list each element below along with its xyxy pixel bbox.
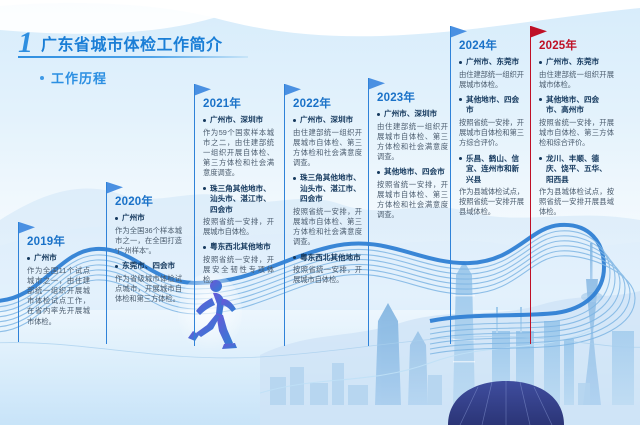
timeline-entry-heading: 珠三角其他地市、汕头市、湛江市、四会市	[293, 173, 362, 205]
timeline-year-label: 2025年	[539, 40, 614, 53]
bullet-icon	[293, 177, 296, 180]
timeline-column-body: 2021年广州市、深圳市作为59个国家样本城市之二，由住建部统一组织开展自体检、…	[194, 84, 274, 286]
timeline-entry: 其他地市、四会市按照省统一安排，开展城市自体检和第三方综合评价。	[459, 95, 524, 149]
timeline-entry-heading: 其他地市、四会市	[459, 95, 524, 116]
bullet-icon	[459, 157, 462, 160]
bullet-icon	[539, 61, 542, 64]
timeline-column-2022[interactable]: 2022年广州市、深圳市由住建部统一组织开展城市自体检、第三方体检和社会满意度调…	[284, 84, 362, 291]
flag-icon	[369, 78, 387, 90]
timeline-entry-text: 作为县城体检试点，按照省统一安排开展县域体检。	[459, 187, 524, 218]
bullet-icon	[293, 256, 296, 259]
timeline-entry: 广州市、东莞市由住建部统一组织开展城市体检。	[539, 57, 614, 90]
flag-icon	[19, 222, 37, 234]
timeline-column-2025[interactable]: 2025年广州市、东莞市由住建部统一组织开展城市体检。其他地市、四会市、高州市按…	[530, 26, 614, 223]
timeline-year-label: 2019年	[27, 236, 90, 249]
timeline-entry-heading-text: 广州市、深圳市	[210, 115, 274, 126]
flag-icon	[107, 182, 125, 194]
timeline-column-body: 2019年广州市作为全国11个试点城市之一，由住建部统一组织开展城市体检试点工作…	[18, 222, 90, 327]
timeline-entry-heading: 广州市、深圳市	[293, 115, 362, 126]
timeline-entry-text: 作为59个国家样本城市之二，由住建部统一组织开展自体检、第三方体检和社会满意度调…	[203, 128, 274, 179]
timeline-entry-text: 由住建部统一组织开展城市自体检、第三方体检和社会满意度调查。	[293, 128, 362, 169]
section-number: 1	[18, 30, 35, 56]
slide-canvas: 1 广东省城市体检工作简介 工作历程 2019年广州市作为全国11个试点城市之一…	[0, 0, 640, 425]
dot-icon	[40, 76, 44, 80]
timeline-entry: 广州市、深圳市作为59个国家样本城市之二，由住建部统一组织开展自体检、第三方体检…	[203, 115, 274, 179]
bullet-icon	[539, 157, 542, 160]
flag-icon	[531, 26, 549, 38]
timeline-year-label: 2024年	[459, 40, 524, 53]
timeline-column-2023[interactable]: 2023年广州市、深圳市由住建部统一组织开展城市自体检、第三方体检和社会满意度调…	[368, 78, 448, 226]
timeline-rail	[368, 78, 369, 346]
timeline-entry-text: 按照省统一安排，开展城市自体检。	[293, 265, 362, 285]
timeline-entry: 珠三角其他地市、汕头市、湛江市、四会市按照省统一安排，开展城市自体检、第三方体检…	[293, 173, 362, 247]
timeline-entry-text: 按照省统一安排，开展城市自体检、第三方体检和社会满意度调查。	[293, 207, 362, 248]
timeline-entry-text: 作为省级城市体检试点城市，开展城市自体检和第三方体检。	[115, 274, 182, 305]
timeline-entry-heading-text: 广州市、东莞市	[466, 57, 524, 68]
timeline-entry-text: 按照省统一安排，开展城市自体检、第三方体检和社会满意度调查。	[377, 180, 448, 221]
timeline-entry-heading: 广州市、东莞市	[539, 57, 614, 68]
timeline-column-body: 2020年广州市作为全国36个样本城市之一，在全国打造“广州样本”。东莞市、四会…	[106, 182, 182, 304]
timeline-year-label: 2021年	[203, 98, 274, 111]
timeline-entry-heading-text: 珠三角其他地市、汕头市、湛江市、四会市	[210, 184, 274, 216]
timeline-entry: 珠三角其他地市、汕头市、湛江市、四会市按照省统一安排，开展城市自体检。	[203, 184, 274, 238]
timeline-entry-heading: 广州市、深圳市	[377, 109, 448, 120]
timeline-entry-heading: 广州市、东莞市	[459, 57, 524, 68]
timeline-entry: 东莞市、四会市作为省级城市体检试点城市，开展城市自体检和第三方体检。	[115, 261, 182, 304]
timeline-entry: 其他地市、四会市、高州市按照省统一安排，开展城市自体检、第三方体检和综合评价。	[539, 95, 614, 149]
timeline-entry-text: 作为全国11个试点城市之一，由住建部统一组织开展城市体检试点工作，在省内率先开展…	[27, 266, 90, 327]
flag-icon	[285, 84, 303, 96]
title-underline-divider	[18, 56, 248, 58]
timeline-column-2021[interactable]: 2021年广州市、深圳市作为59个国家样本城市之二，由住建部统一组织开展自体检、…	[194, 84, 274, 291]
timeline-entry-text: 按照省统一安排，开展城市自体检。	[203, 217, 274, 237]
timeline-column-2019[interactable]: 2019年广州市作为全国11个试点城市之一，由住建部统一组织开展城市体检试点工作…	[18, 222, 90, 332]
bullet-icon	[459, 98, 462, 101]
timeline-entry-text: 由住建部统一组织开展城市自体检、第三方体检和社会满意度调查。	[377, 122, 448, 163]
timeline-entry-heading-text: 乐昌、鹤山、信宜、连州市和新兴县	[466, 154, 524, 186]
timeline-entry-heading-text: 广州市	[34, 253, 90, 264]
timeline-entry: 广州市、东莞市由住建部统一组织开展城市体检。	[459, 57, 524, 90]
timeline-rail	[530, 26, 531, 344]
timeline-entry-heading-text: 其他地市、四会市、高州市	[546, 95, 614, 116]
timeline-entry-heading-text: 广州市、深圳市	[384, 109, 448, 120]
timeline-entry-heading: 粤东西北其他地市	[203, 242, 274, 253]
subsection-title: 工作历程	[51, 68, 107, 87]
bullet-icon	[115, 265, 118, 268]
timeline-entry-text: 按照省统一安排，开展城市自体检和第三方综合评价。	[459, 118, 524, 149]
timeline-entry: 广州市作为全国11个试点城市之一，由住建部统一组织开展城市体检试点工作，在省内率…	[27, 253, 90, 327]
timeline-entry: 广州市、深圳市由住建部统一组织开展城市自体检、第三方体检和社会满意度调查。	[377, 109, 448, 162]
timeline-entry-heading: 粤东西北其他地市	[293, 253, 362, 264]
timeline-column-body: 2022年广州市、深圳市由住建部统一组织开展城市自体检、第三方体检和社会满意度调…	[284, 84, 362, 286]
timeline-entry-text: 由住建部统一组织开展城市体检。	[539, 70, 614, 90]
timeline-rail	[450, 26, 451, 344]
timeline-entry: 乐昌、鹤山、信宜、连州市和新兴县作为县城体检试点，按照省统一安排开展县域体检。	[459, 154, 524, 218]
timeline-year-label: 2023年	[377, 92, 448, 105]
timeline-entry-heading-text: 广州市、深圳市	[300, 115, 362, 126]
timeline-entry-heading-text: 龙川、丰顺、德庆、饶平、五华、阳西县	[546, 154, 614, 186]
timeline-entry-heading-text: 其他地市、四会市	[466, 95, 524, 116]
timeline-column-body: 2024年广州市、东莞市由住建部统一组织开展城市体检。其他地市、四会市按照省统一…	[450, 26, 524, 218]
timeline-entry-heading: 其他地市、四会市、高州市	[539, 95, 614, 116]
timeline-entry: 粤东西北其他地市按照省统一安排，开展安全韧性专项体检。	[203, 242, 274, 285]
timeline-entry: 其他地市、四会市按照省统一安排，开展城市自体检、第三方体检和社会满意度调查。	[377, 167, 448, 220]
timeline-entry-heading: 其他地市、四会市	[377, 167, 448, 178]
timeline-entry-text: 按照省统一安排，开展安全韧性专项体检。	[203, 255, 274, 286]
timeline-rail	[194, 84, 195, 346]
bullet-icon	[539, 98, 542, 101]
bullet-icon	[293, 119, 296, 122]
timeline-entry: 龙川、丰顺、德庆、饶平、五华、阳西县作为县城体检试点，按照省统一安排开展县域体检…	[539, 154, 614, 218]
timeline-entry-heading-text: 广州市	[122, 213, 182, 224]
timeline-entry-heading: 东莞市、四会市	[115, 261, 182, 272]
bullet-icon	[115, 217, 118, 220]
timeline-entry-heading: 珠三角其他地市、汕头市、湛江市、四会市	[203, 184, 274, 216]
timeline-entry-heading: 广州市	[27, 253, 90, 264]
timeline-entry-heading: 广州市、深圳市	[203, 115, 274, 126]
timeline-entry-heading: 乐昌、鹤山、信宜、连州市和新兴县	[459, 154, 524, 186]
bullet-icon	[459, 61, 462, 64]
timeline-entry-text: 由住建部统一组织开展城市体检。	[459, 70, 524, 90]
timeline-entry: 粤东西北其他地市按照省统一安排，开展城市自体检。	[293, 253, 362, 286]
timeline-entry: 广州市、深圳市由住建部统一组织开展城市自体检、第三方体检和社会满意度调查。	[293, 115, 362, 168]
page-title-block: 1 广东省城市体检工作简介	[18, 30, 223, 56]
bullet-icon	[377, 113, 380, 116]
timeline-entry-heading-text: 广州市、东莞市	[546, 57, 614, 68]
timeline-entry-text: 作为全国36个样本城市之一，在全国打造“广州样本”。	[115, 226, 182, 257]
timeline-entry-text: 按照省统一安排，开展城市自体检、第三方体检和综合评价。	[539, 118, 614, 149]
timeline-year-label: 2020年	[115, 196, 182, 209]
timeline-column-body: 2025年广州市、东莞市由住建部统一组织开展城市体检。其他地市、四会市、高州市按…	[530, 26, 614, 218]
bullet-icon	[377, 171, 380, 174]
timeline-entry-heading-text: 珠三角其他地市、汕头市、湛江市、四会市	[300, 173, 362, 205]
timeline-entry: 广州市作为全国36个样本城市之一，在全国打造“广州样本”。	[115, 213, 182, 256]
timeline-entry-heading: 广州市	[115, 213, 182, 224]
timeline-rail	[106, 182, 107, 344]
bullet-icon	[27, 257, 30, 260]
timeline-rail	[284, 84, 285, 346]
timeline-entry-heading-text: 粤东西北其他地市	[210, 242, 274, 253]
bullet-icon	[203, 119, 206, 122]
bullet-icon	[203, 187, 206, 190]
timeline-entry-heading-text: 粤东西北其他地市	[300, 253, 362, 264]
timeline-year-label: 2022年	[293, 98, 362, 111]
page-title: 广东省城市体检工作简介	[35, 37, 223, 56]
subsection-title-block: 工作历程	[40, 68, 107, 87]
timeline-entry-heading: 龙川、丰顺、德庆、饶平、五华、阳西县	[539, 154, 614, 186]
timeline-entry-text: 作为县城体检试点，按照省统一安排开展县域体检。	[539, 187, 614, 218]
timeline-entry-heading-text: 东莞市、四会市	[122, 261, 182, 272]
timeline-rail	[18, 222, 19, 342]
timeline-column-body: 2023年广州市、深圳市由住建部统一组织开展城市自体检、第三方体检和社会满意度调…	[368, 78, 448, 221]
timeline-entry-heading-text: 其他地市、四会市	[384, 167, 448, 178]
flag-icon	[195, 84, 213, 96]
timeline-column-2020[interactable]: 2020年广州市作为全国36个样本城市之一，在全国打造“广州样本”。东莞市、四会…	[106, 182, 182, 309]
bullet-icon	[203, 246, 206, 249]
timeline-column-2024[interactable]: 2024年广州市、东莞市由住建部统一组织开展城市体检。其他地市、四会市按照省统一…	[450, 26, 524, 223]
flag-icon	[451, 26, 469, 38]
